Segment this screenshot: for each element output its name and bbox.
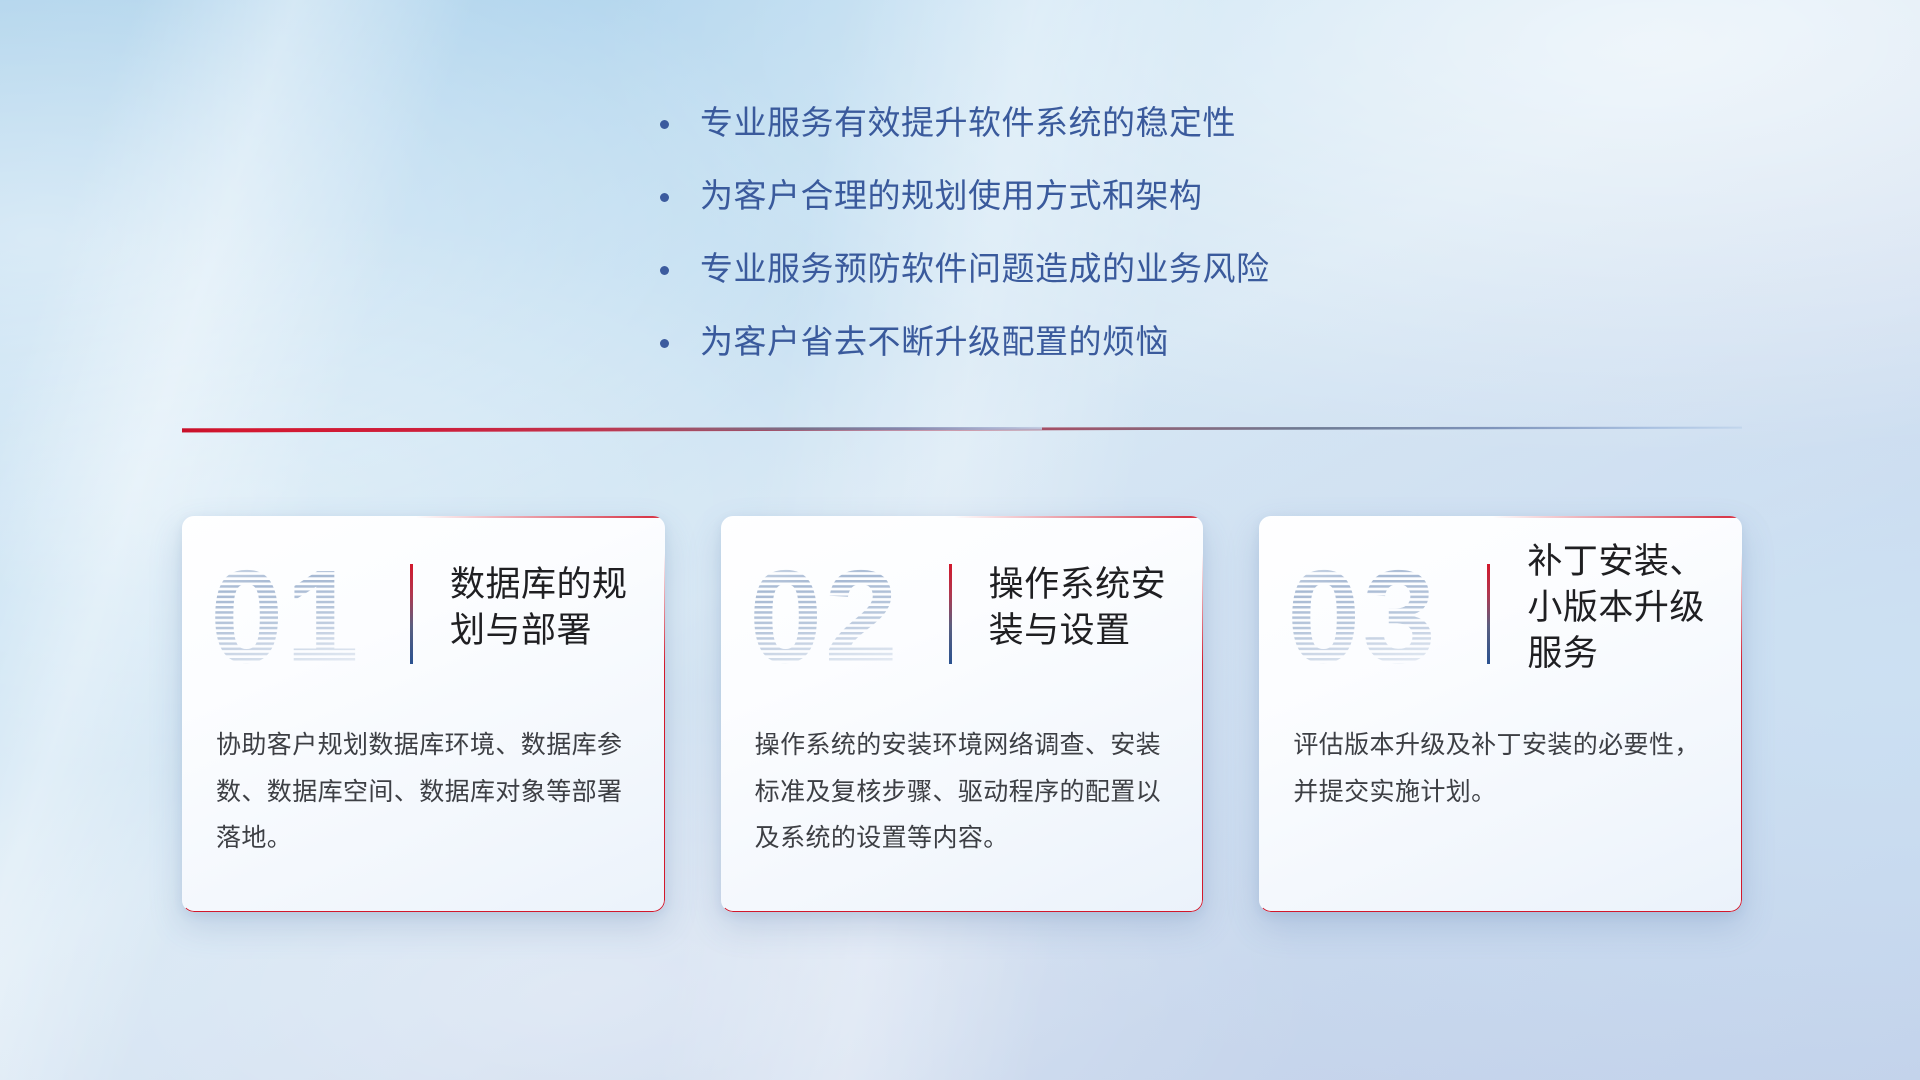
list-item: 专业服务预防软件问题造成的业务风险 bbox=[660, 246, 1270, 293]
striped-numeral-icon: 02 bbox=[749, 554, 935, 678]
bullet-text: 为客户合理的规划使用方式和架构 bbox=[700, 173, 1203, 220]
card-number-watermark-icon: 02 bbox=[749, 554, 935, 678]
svg-text:02: 02 bbox=[749, 554, 900, 678]
card-header: 02 操作系统安装与设置 bbox=[721, 516, 1204, 700]
svg-text:03: 03 bbox=[1287, 554, 1438, 678]
card-number-watermark-icon: 03 bbox=[1287, 554, 1473, 678]
service-card[interactable]: 02 操作系统安装与设置 操作系统的安装环境网络调查、安装标准及复核步骤、驱动程… bbox=[721, 516, 1204, 912]
card-title: 操作系统安装与设置 bbox=[989, 562, 1174, 654]
service-card[interactable]: 01 数据库的规划与部署 协助客户规划数据库环境、数据库参数、数据库空间、数据库… bbox=[182, 516, 665, 912]
benefits-bullet-list: 专业服务有效提升软件系统的稳定性 为客户合理的规划使用方式和架构 专业服务预防软… bbox=[660, 100, 1270, 391]
bullet-dot-icon bbox=[660, 120, 669, 129]
title-accent-rule bbox=[410, 564, 413, 664]
card-title: 数据库的规划与部署 bbox=[450, 562, 635, 654]
bullet-text: 专业服务预防软件问题造成的业务风险 bbox=[700, 246, 1270, 293]
card-title: 补丁安装、小版本升级服务 bbox=[1527, 539, 1712, 678]
title-accent-rule bbox=[1487, 564, 1490, 664]
card-header: 01 数据库的规划与部署 bbox=[182, 516, 665, 700]
slide-canvas: 专业服务有效提升软件系统的稳定性 为客户合理的规划使用方式和架构 专业服务预防软… bbox=[0, 0, 1920, 1080]
bullet-dot-icon bbox=[660, 266, 669, 275]
card-header: 03 补丁安装、小版本升级服务 bbox=[1259, 516, 1742, 700]
bullet-dot-icon bbox=[660, 339, 669, 348]
svg-text:01: 01 bbox=[210, 554, 361, 678]
card-body-text: 操作系统的安装环境网络调查、安装标准及复核步骤、驱动程序的配置以及系统的设置等内… bbox=[755, 722, 1170, 862]
list-item: 为客户省去不断升级配置的烦恼 bbox=[660, 319, 1270, 366]
striped-numeral-icon: 01 bbox=[210, 554, 396, 678]
card-number-watermark-icon: 01 bbox=[210, 554, 396, 678]
list-item: 为客户合理的规划使用方式和架构 bbox=[660, 173, 1270, 220]
list-item: 专业服务有效提升软件系统的稳定性 bbox=[660, 100, 1270, 147]
service-card-row: 01 数据库的规划与部署 协助客户规划数据库环境、数据库参数、数据库空间、数据库… bbox=[182, 516, 1742, 912]
striped-numeral-icon: 03 bbox=[1287, 554, 1473, 678]
service-card[interactable]: 03 补丁安装、小版本升级服务 评估版本升级及补丁安装的必要性，并提交实施计划。 bbox=[1259, 516, 1742, 912]
bullet-text: 专业服务有效提升软件系统的稳定性 bbox=[700, 100, 1236, 147]
title-accent-rule bbox=[949, 564, 952, 664]
bullet-text: 为客户省去不断升级配置的烦恼 bbox=[700, 319, 1169, 366]
tapered-rule-icon bbox=[182, 420, 1742, 438]
card-body-text: 评估版本升级及补丁安装的必要性，并提交实施计划。 bbox=[1293, 722, 1708, 815]
section-divider bbox=[182, 420, 1742, 438]
bullet-dot-icon bbox=[660, 193, 669, 202]
card-body-text: 协助客户规划数据库环境、数据库参数、数据库空间、数据库对象等部署落地。 bbox=[216, 722, 631, 862]
